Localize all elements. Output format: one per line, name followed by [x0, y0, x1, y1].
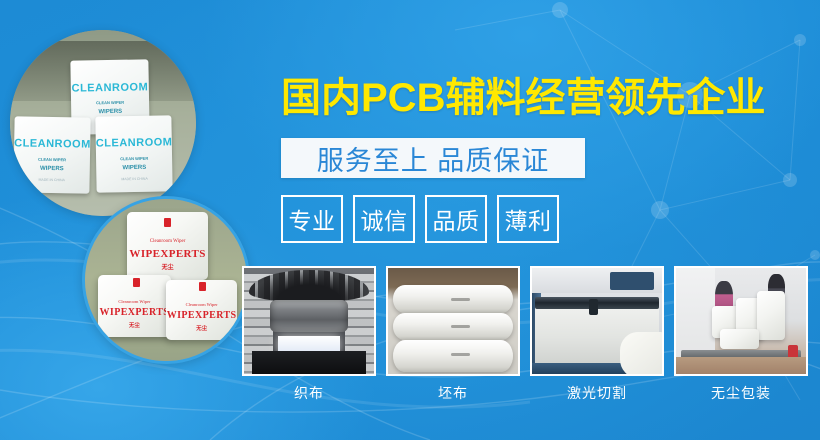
cleanroom-brand-text: CLEANROOM	[95, 136, 171, 149]
process-photo-greige-fabric	[386, 266, 520, 376]
process-photo-weaving	[242, 266, 376, 376]
cleanroom-brand-text: CLEANROOM	[71, 81, 149, 94]
laser-cutter-scene	[532, 268, 662, 374]
feature-tag-professional: 专业	[281, 195, 343, 243]
cut-cloth	[620, 332, 664, 376]
cleanroom-line4-text: MADE IN CHINA	[13, 178, 89, 183]
product-photo-wipexperts: Cleanroom Wiper WIPEXPERTS 无尘 Cleanroom …	[82, 196, 250, 364]
wipexperts-mark-text: 无尘	[98, 321, 171, 329]
process-caption: 织布	[242, 383, 376, 403]
process-photo-laser-cutting	[530, 266, 664, 376]
fabric-roll	[393, 340, 513, 372]
promo-banner: CLEANROOM CLEAN WIPER WIPERS MADE IN CHI…	[0, 0, 820, 440]
process-caption: 无尘包装	[674, 383, 808, 403]
product-photo-cleanroom: CLEANROOM CLEAN WIPER WIPERS MADE IN CHI…	[10, 30, 196, 216]
cleanroom-line2-text: CLEAN WIPER	[96, 155, 172, 161]
wiper-stack	[720, 329, 759, 348]
fabric-rolls-scene	[388, 268, 518, 374]
feature-tag-label: 专业	[289, 202, 336, 236]
cleanroom-line2-text: CLEAN WIPER	[71, 99, 149, 105]
cleanroom-line3-text: WIPERS	[96, 164, 172, 171]
process-step-greige-fabric: 坯布	[386, 266, 520, 403]
wipexperts-topline-text: Cleanroom Wiper	[98, 299, 171, 304]
machine-drum	[270, 300, 348, 332]
wipexperts-bale-top: Cleanroom Wiper WIPEXPERTS 无尘	[127, 212, 208, 280]
feature-tag-list: 专业 诚信 品质 薄利	[281, 195, 781, 243]
red-seal-icon	[133, 278, 140, 287]
cleanroom-pack-left: CLEANROOM CLEAN WIPER WIPERS MADE IN CHI…	[13, 117, 91, 195]
feature-tag-label: 薄利	[505, 202, 552, 236]
cleanroom-line3-text: WIPERS	[13, 166, 89, 173]
packing-floor	[676, 357, 806, 374]
laser-head	[589, 299, 598, 315]
cleanroom-wipers-scene: CLEANROOM CLEAN WIPER WIPERS MADE IN CHI…	[10, 30, 196, 216]
cleanroom-brand-text: CLEANROOM	[14, 138, 90, 151]
red-seal-icon	[164, 218, 171, 227]
process-photo-strip: 织布 坯布	[242, 266, 808, 403]
machine-base	[252, 351, 366, 374]
subtitle-bar: 服务至上 品质保证	[281, 138, 585, 178]
page-title: 国内PCB辅料经营领先企业	[281, 74, 781, 122]
wipexperts-mark-text: 无尘	[127, 262, 208, 271]
process-caption: 坯布	[386, 383, 520, 403]
wipexperts-mark-text: 无尘	[166, 324, 237, 332]
red-seal-icon	[199, 282, 206, 291]
feature-tag-label: 诚信	[361, 202, 408, 236]
fabric-roll	[393, 313, 513, 341]
wipexperts-bale-left: Cleanroom Wiper WIPEXPERTS 无尘	[98, 275, 171, 337]
fabric-roll	[393, 285, 513, 313]
process-step-weaving: 织布	[242, 266, 376, 403]
wipexperts-bale-right: Cleanroom Wiper WIPEXPERTS 无尘	[166, 280, 237, 340]
wipexperts-topline-text: Cleanroom Wiper	[166, 302, 237, 307]
laser-control-panel	[610, 272, 654, 290]
wipexperts-topline-text: Cleanroom Wiper	[127, 239, 208, 244]
cleanroom-line2-text: CLEAN WIPER	[14, 156, 90, 162]
packing-room-scene	[676, 268, 806, 374]
wipexperts-brand-text: WIPEXPERTS	[127, 248, 208, 260]
knitting-machine-scene	[244, 268, 374, 374]
process-step-laser-cutting: 激光切割	[530, 266, 664, 403]
feature-tag-quality: 品质	[425, 195, 487, 243]
cleanroom-line4-text: MADE IN CHINA	[96, 176, 172, 181]
process-caption: 激光切割	[530, 383, 664, 403]
process-photo-cleanroom-packing	[674, 266, 808, 376]
feature-tag-low-margin: 薄利	[497, 195, 559, 243]
wipexperts-brand-text: WIPEXPERTS	[166, 310, 237, 321]
process-step-cleanroom-packing: 无尘包装	[674, 266, 808, 403]
wipexperts-brand-text: WIPEXPERTS	[98, 307, 171, 318]
feature-tag-integrity: 诚信	[353, 195, 415, 243]
cleanroom-pack-right: CLEANROOM CLEAN WIPER WIPERS MADE IN CHI…	[95, 115, 173, 193]
subtitle-text: 服务至上 品质保证	[317, 139, 550, 178]
wiper-stack	[757, 291, 786, 340]
wipexperts-bales-scene: Cleanroom Wiper WIPEXPERTS 无尘 Cleanroom …	[85, 199, 247, 361]
cleanroom-line3-text: WIPERS	[72, 108, 150, 115]
headline-block: 国内PCB辅料经营领先企业 服务至上 品质保证 专业 诚信 品质 薄利	[281, 74, 781, 243]
feature-tag-label: 品质	[433, 202, 480, 236]
